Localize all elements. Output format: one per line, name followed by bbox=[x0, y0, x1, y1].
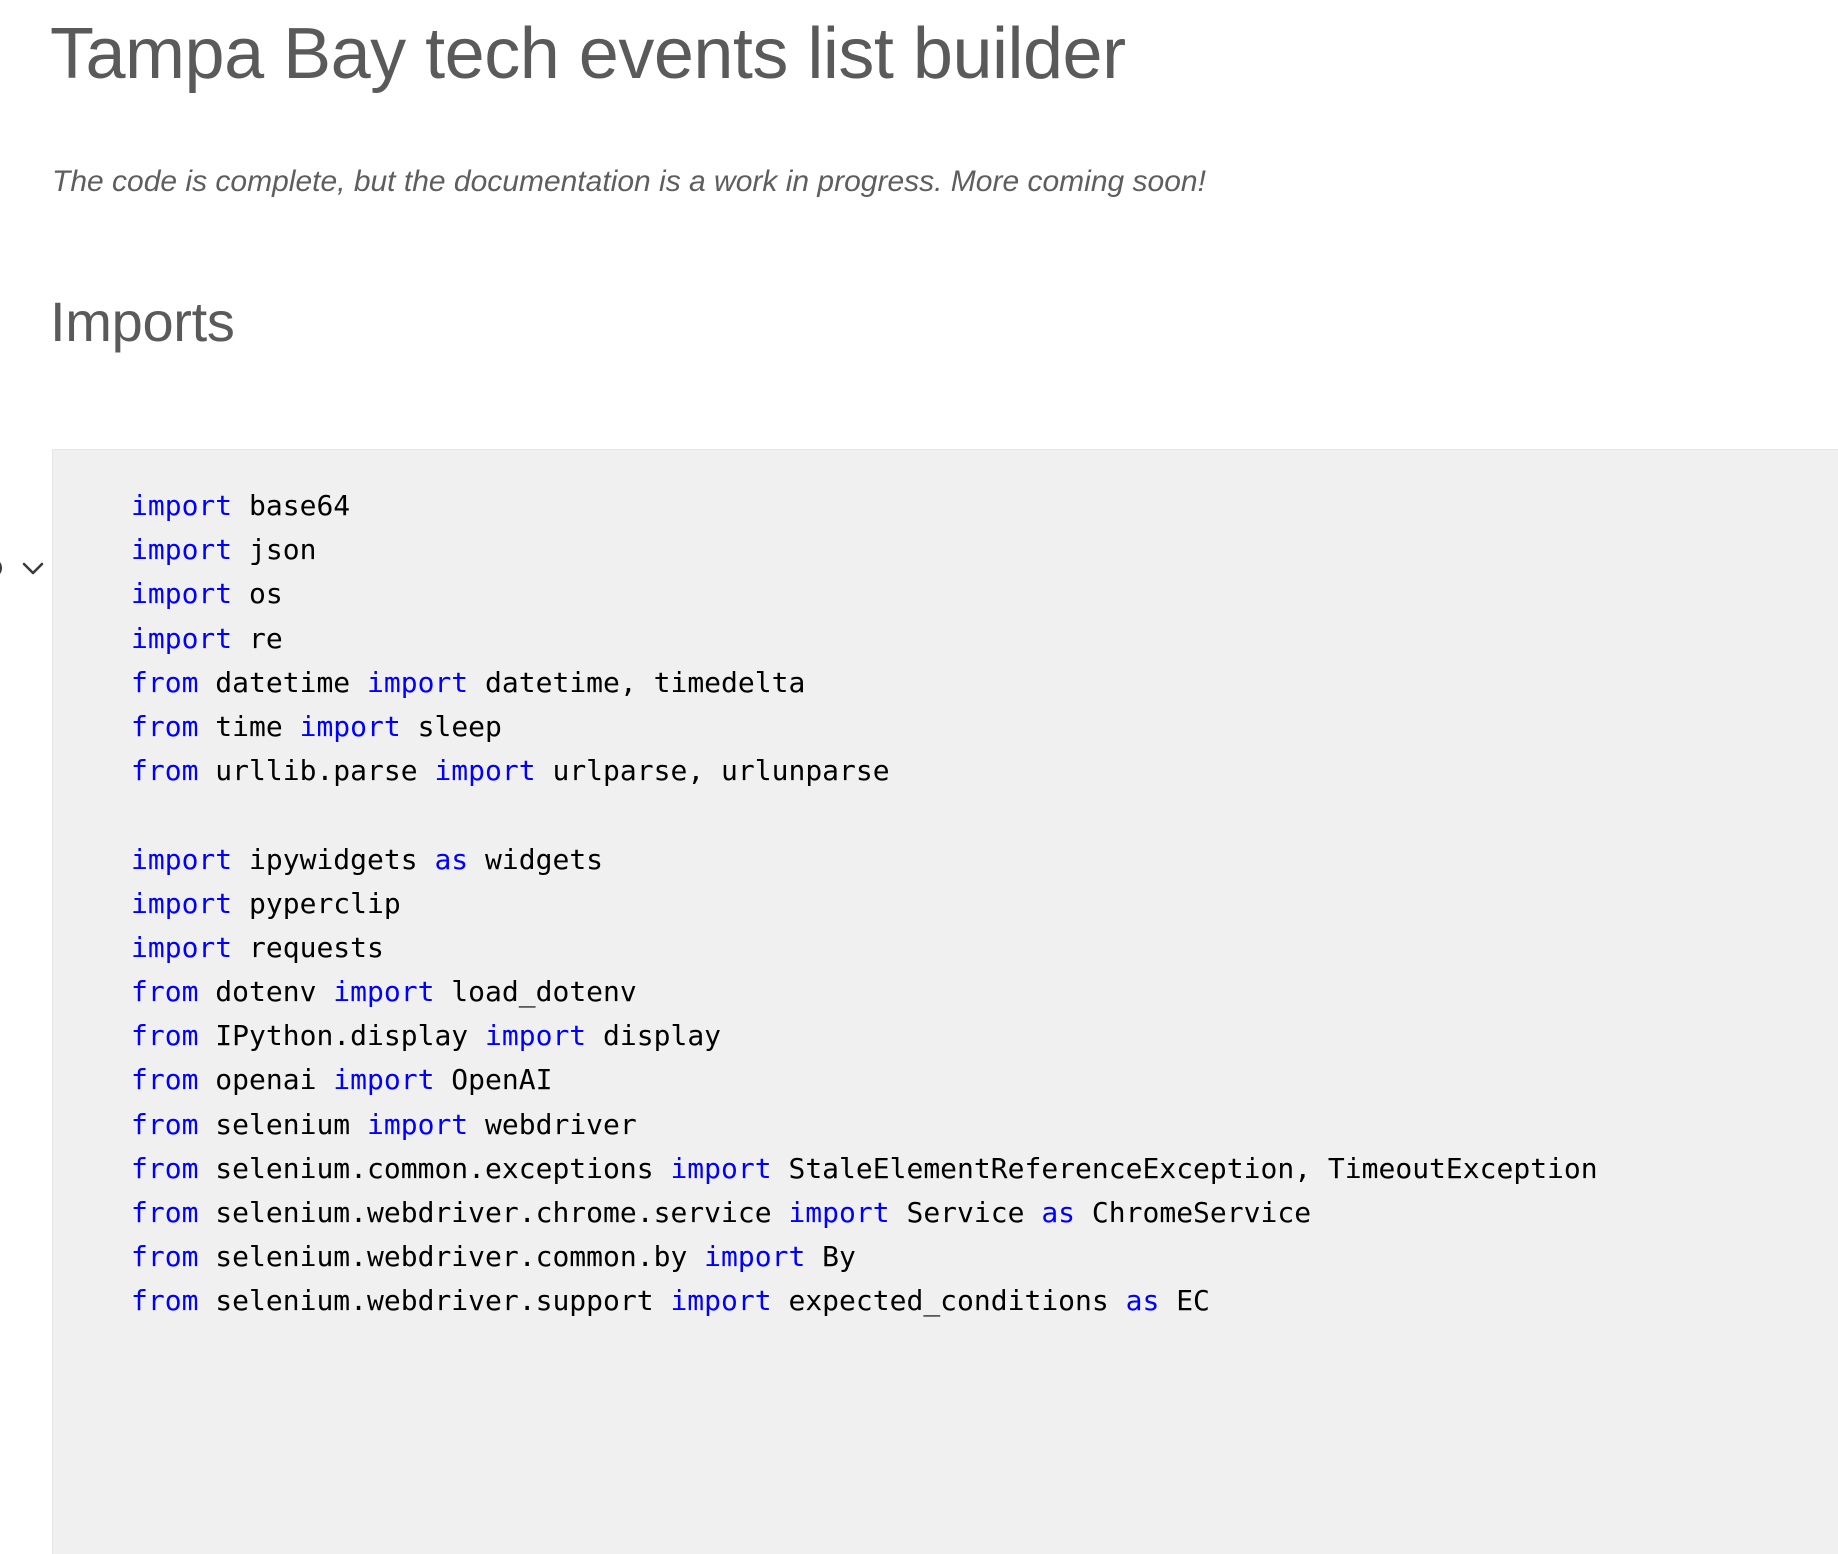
code-keyword: from bbox=[131, 710, 198, 743]
code-identifier: By bbox=[805, 1240, 856, 1273]
code-identifier: sleep bbox=[401, 710, 502, 743]
code-identifier: re bbox=[232, 622, 283, 655]
code-identifier: selenium.webdriver.common.by bbox=[198, 1240, 704, 1273]
code-identifier: expected_conditions bbox=[772, 1284, 1126, 1317]
code-line: import re bbox=[131, 617, 1598, 661]
code-keyword: import bbox=[367, 1108, 468, 1141]
documentation-page: Tampa Bay tech events list builder The c… bbox=[0, 0, 1838, 1554]
code-line: from datetime import datetime, timedelta bbox=[131, 661, 1598, 705]
code-identifier: widgets bbox=[468, 843, 603, 876]
code-block[interactable]: import base64import jsonimport osimport … bbox=[131, 484, 1598, 1324]
code-line: from selenium.webdriver.support import e… bbox=[131, 1279, 1598, 1323]
code-line: import requests bbox=[131, 926, 1598, 970]
code-keyword: import bbox=[300, 710, 401, 743]
code-identifier: ipywidgets bbox=[232, 843, 434, 876]
code-line bbox=[131, 793, 1598, 837]
code-keyword: as bbox=[1126, 1284, 1160, 1317]
code-keyword: from bbox=[131, 1284, 198, 1317]
code-identifier: json bbox=[232, 533, 316, 566]
code-identifier: selenium.common.exceptions bbox=[198, 1152, 670, 1185]
code-line: import ipywidgets as widgets bbox=[131, 838, 1598, 882]
code-line: from selenium.webdriver.chrome.service i… bbox=[131, 1191, 1598, 1235]
code-keyword: import bbox=[131, 843, 232, 876]
code-keyword: import bbox=[333, 1063, 434, 1096]
circle-dot-icon[interactable] bbox=[0, 558, 2, 578]
code-keyword: from bbox=[131, 754, 198, 787]
code-keyword: from bbox=[131, 1019, 198, 1052]
code-keyword: import bbox=[131, 887, 232, 920]
code-cell-imports[interactable]: import base64import jsonimport osimport … bbox=[52, 449, 1838, 1554]
page-subtitle: The code is complete, but the documentat… bbox=[52, 160, 1206, 204]
code-identifier: requests bbox=[232, 931, 384, 964]
code-identifier: EC bbox=[1159, 1284, 1210, 1317]
code-keyword: as bbox=[434, 843, 468, 876]
code-keyword: import bbox=[485, 1019, 586, 1052]
code-identifier: load_dotenv bbox=[434, 975, 636, 1008]
code-identifier: StaleElementReferenceException, TimeoutE… bbox=[772, 1152, 1598, 1185]
code-keyword: import bbox=[131, 489, 232, 522]
code-line: from dotenv import load_dotenv bbox=[131, 970, 1598, 1014]
code-keyword: import bbox=[788, 1196, 889, 1229]
code-keyword: import bbox=[704, 1240, 805, 1273]
code-identifier: selenium.webdriver.chrome.service bbox=[198, 1196, 788, 1229]
code-identifier: dotenv bbox=[198, 975, 333, 1008]
code-identifier: datetime bbox=[198, 666, 367, 699]
code-line: from selenium import webdriver bbox=[131, 1103, 1598, 1147]
code-line: from selenium.webdriver.common.by import… bbox=[131, 1235, 1598, 1279]
code-line: from IPython.display import display bbox=[131, 1014, 1598, 1058]
code-identifier: webdriver bbox=[468, 1108, 637, 1141]
code-keyword: import bbox=[434, 754, 535, 787]
code-identifier: openai bbox=[198, 1063, 333, 1096]
code-keyword: import bbox=[131, 577, 232, 610]
code-line: import base64 bbox=[131, 484, 1598, 528]
code-keyword: import bbox=[131, 931, 232, 964]
code-keyword: import bbox=[131, 533, 232, 566]
code-identifier: datetime, timedelta bbox=[468, 666, 805, 699]
code-line: import json bbox=[131, 528, 1598, 572]
chevron-down-icon[interactable] bbox=[16, 551, 50, 585]
code-keyword: from bbox=[131, 1240, 198, 1273]
code-keyword: from bbox=[131, 1108, 198, 1141]
code-keyword: import bbox=[367, 666, 468, 699]
code-identifier: display bbox=[586, 1019, 721, 1052]
code-keyword: from bbox=[131, 1063, 198, 1096]
code-keyword: from bbox=[131, 1196, 198, 1229]
code-line: from openai import OpenAI bbox=[131, 1058, 1598, 1102]
code-identifier: base64 bbox=[232, 489, 350, 522]
code-identifier: urllib.parse bbox=[198, 754, 434, 787]
code-keyword: from bbox=[131, 666, 198, 699]
code-identifier: Service bbox=[890, 1196, 1042, 1229]
code-identifier: os bbox=[232, 577, 283, 610]
code-identifier: IPython.display bbox=[198, 1019, 485, 1052]
code-identifier: selenium.webdriver.support bbox=[198, 1284, 670, 1317]
code-identifier: time bbox=[198, 710, 299, 743]
code-line: import os bbox=[131, 572, 1598, 616]
code-identifier: selenium bbox=[198, 1108, 367, 1141]
code-line: import pyperclip bbox=[131, 882, 1598, 926]
section-heading-imports: Imports bbox=[50, 290, 235, 354]
code-keyword: import bbox=[333, 975, 434, 1008]
code-keyword: from bbox=[131, 975, 198, 1008]
code-keyword: import bbox=[670, 1284, 771, 1317]
code-identifier: OpenAI bbox=[434, 1063, 552, 1096]
code-identifier: urlparse, urlunparse bbox=[536, 754, 890, 787]
page-title: Tampa Bay tech events list builder bbox=[50, 14, 1126, 95]
code-keyword: import bbox=[670, 1152, 771, 1185]
code-keyword: as bbox=[1041, 1196, 1075, 1229]
code-line: from selenium.common.exceptions import S… bbox=[131, 1147, 1598, 1191]
code-keyword: import bbox=[131, 622, 232, 655]
code-line: from urllib.parse import urlparse, urlun… bbox=[131, 749, 1598, 793]
code-identifier: ChromeService bbox=[1075, 1196, 1311, 1229]
code-keyword: from bbox=[131, 1152, 198, 1185]
code-identifier: pyperclip bbox=[232, 887, 401, 920]
code-line: from time import sleep bbox=[131, 705, 1598, 749]
